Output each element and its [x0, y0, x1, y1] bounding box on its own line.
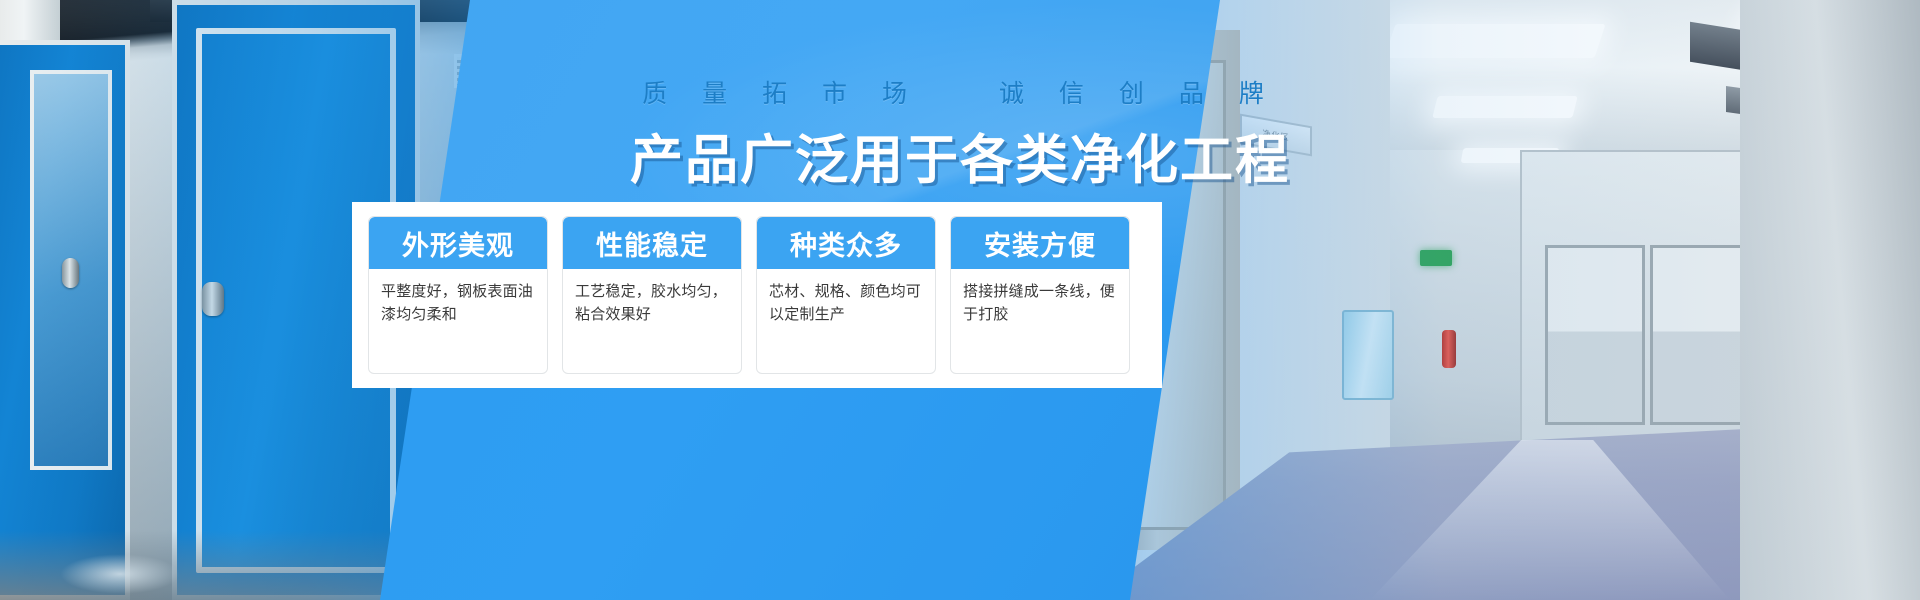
ceiling-light-1: [1384, 24, 1605, 58]
feature-card-body: 平整度好，钢板表面油漆均匀柔和: [369, 269, 547, 373]
feature-card-body: 工艺稳定，胶水均匀，粘合效果好: [563, 269, 741, 373]
feature-card[interactable]: 外形美观 平整度好，钢板表面油漆均匀柔和: [368, 216, 548, 374]
feature-card[interactable]: 种类众多 芯材、规格、颜色均可以定制生产: [756, 216, 936, 374]
corridor-cart: [1342, 310, 1394, 400]
door-handle-icon: [202, 282, 224, 316]
feature-card-title: 性能稳定: [563, 217, 741, 269]
fire-extinguisher-icon: [1442, 330, 1456, 368]
feature-card-body: 搭接拼缝成一条线，便于打胶: [951, 269, 1129, 373]
page-title: 产品广泛用于各类净化工程: [0, 118, 1920, 194]
feature-card-title: 外形美观: [369, 217, 547, 269]
promo-banner: 净化区 质 量 拓 市 场 诚 信 创 品 牌 产品广泛用于各类净化工程 外形美…: [0, 0, 1920, 600]
corridor-end-door-left: [1545, 245, 1645, 425]
feature-card-strip: 外形美观 平整度好，钢板表面油漆均匀柔和 性能稳定 工艺稳定，胶水均匀，粘合效果…: [352, 202, 1162, 388]
feature-card-title: 种类众多: [757, 217, 935, 269]
lock-icon-left: [62, 258, 79, 288]
corridor-end-door-right: [1650, 245, 1750, 425]
tagline: 质 量 拓 市 场 诚 信 创 品 牌: [0, 74, 1920, 110]
feature-card[interactable]: 安装方便 搭接拼缝成一条线，便于打胶: [950, 216, 1130, 374]
exit-sign-icon: [1420, 250, 1452, 266]
feature-card-title: 安装方便: [951, 217, 1129, 269]
feature-card-body: 芯材、规格、颜色均可以定制生产: [757, 269, 935, 373]
feature-card[interactable]: 性能稳定 工艺稳定，胶水均匀，粘合效果好: [562, 216, 742, 374]
ground-highlight: [60, 554, 180, 594]
